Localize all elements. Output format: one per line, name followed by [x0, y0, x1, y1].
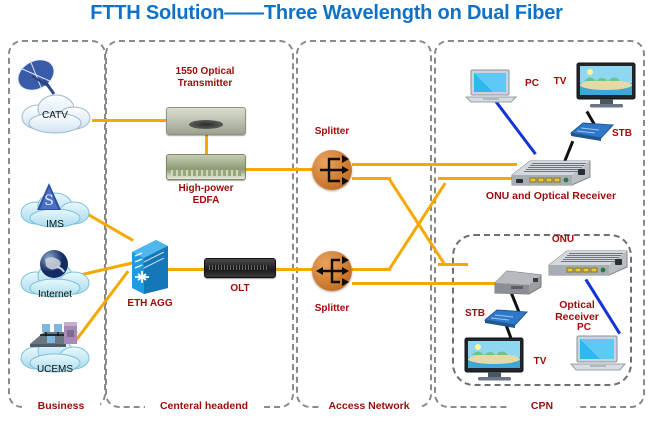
satellite-dish-icon	[14, 58, 62, 100]
link-splitter-bottom-out-upper-stub	[352, 268, 391, 271]
edfa-device[interactable]	[166, 154, 246, 180]
splitter-top-label: Splitter	[300, 126, 364, 138]
cloud-label: IMS	[46, 219, 64, 230]
splitter-bottom[interactable]	[312, 251, 352, 291]
optical-receiver-label-line1: Optical	[559, 299, 595, 311]
eth-agg-switch[interactable]	[130, 238, 170, 296]
link-splitter-top-out-upper	[352, 163, 517, 166]
olt-device[interactable]	[204, 258, 276, 278]
transmitter-label-line2: Transmitter	[178, 78, 232, 89]
transmitter-drive-bay	[189, 120, 223, 129]
pc-top-label: PC	[520, 78, 544, 90]
pc-top[interactable]	[465, 68, 517, 104]
diagram-canvas: FTTH Solution——Three Wavelength on Dual …	[0, 0, 653, 422]
link-cross-bottom-arrival	[438, 177, 518, 180]
stb-top-label: STB	[608, 128, 636, 140]
zone-label-cpn: CPN	[508, 400, 576, 412]
svg-text:S: S	[44, 193, 54, 209]
zone-label-centeral-headend: Centeral headend	[145, 400, 263, 412]
pc-bottom-label: PC	[572, 322, 596, 334]
olt-port-row	[209, 265, 269, 270]
tv-top-label: TV	[548, 76, 572, 88]
zone-centeral-headend	[105, 40, 294, 408]
splitter-top[interactable]	[312, 150, 352, 190]
link-olt-to-splitter-bottom	[274, 268, 316, 271]
tv-top[interactable]	[576, 62, 638, 110]
edfa-label: High-power EDFA	[151, 183, 261, 206]
link-edfa-to-splitter-top	[240, 168, 315, 171]
olt-label: OLT	[213, 283, 267, 295]
onu-bottom-label: ONU	[543, 234, 583, 246]
edfa-label-line2: EDFA	[193, 195, 220, 206]
link-cross-top-arrival	[438, 263, 468, 266]
onu-bottom[interactable]	[545, 245, 631, 279]
splitter-arrows-icon	[312, 251, 352, 291]
pc-bottom[interactable]	[570, 334, 626, 372]
transmitter-label: 1550 Optical Transmitter	[150, 66, 260, 89]
tv-bottom-label: TV	[528, 356, 552, 368]
cloud-label: UCEMS	[37, 364, 73, 375]
edfa-front-panel	[171, 170, 241, 176]
ims-logo-icon: S	[36, 182, 62, 212]
optical-transmitter-device[interactable]	[166, 107, 246, 135]
optical-receiver-label-line2: Receiver	[555, 311, 599, 323]
zone-access-network	[296, 40, 432, 408]
link-eth-agg-to-olt	[166, 268, 204, 271]
splitter-arrows-icon	[312, 150, 352, 190]
edfa-label-line1: High-power	[179, 183, 234, 194]
cloud-label: Internet	[38, 289, 72, 300]
eth-agg-label: ETH AGG	[113, 298, 187, 310]
zone-label-business: Business	[22, 400, 100, 412]
stb-bottom[interactable]	[483, 306, 529, 330]
onu-top-label: ONU and Optical Receiver	[471, 191, 631, 203]
server-rack-icon	[26, 318, 82, 352]
onu-top[interactable]	[508, 155, 594, 189]
globe-icon	[39, 249, 69, 279]
optical-receiver-bottom[interactable]	[493, 267, 545, 297]
link-catv-to-transmitter	[92, 119, 166, 122]
transmitter-label-line1: 1550 Optical	[176, 66, 235, 77]
tv-bottom[interactable]	[464, 337, 526, 383]
page-title: FTTH Solution——Three Wavelength on Dual …	[0, 2, 653, 25]
splitter-bottom-label: Splitter	[300, 303, 364, 315]
link-splitter-top-out-lower-stub	[352, 177, 391, 180]
zone-label-access-network: Access Network	[320, 400, 418, 412]
cloud-label: CATV	[42, 110, 68, 121]
optical-receiver-bottom-label: Optical Receiver	[533, 300, 621, 323]
